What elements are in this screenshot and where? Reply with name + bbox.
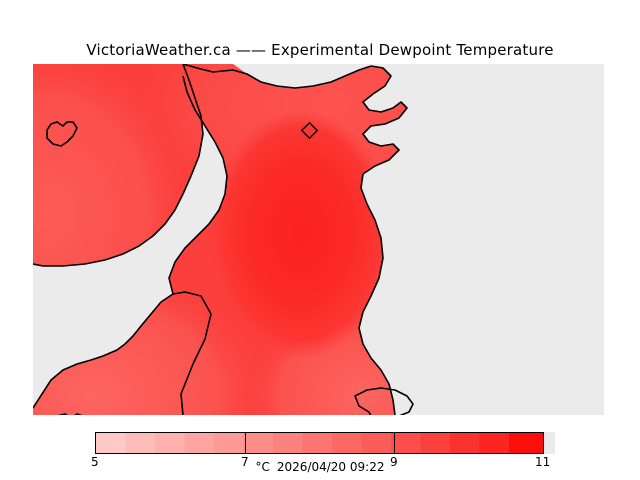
map-plot-area[interactable] bbox=[33, 64, 604, 415]
colorbar: 5 7 9 11 bbox=[95, 432, 555, 454]
colorbar-gradient bbox=[96, 433, 543, 453]
timestamp-label: 2026/04/20 09:22 bbox=[277, 460, 385, 474]
colorbar-caption: °C2026/04/20 09:22 bbox=[0, 460, 640, 474]
weather-map-page: VictoriaWeather.ca —— Experimental Dewpo… bbox=[0, 0, 640, 480]
colorbar-tail bbox=[544, 432, 555, 454]
dewpoint-map bbox=[33, 64, 604, 415]
colorbar-divider-7 bbox=[245, 433, 246, 454]
colorbar-track bbox=[95, 432, 544, 454]
page-title: VictoriaWeather.ca —— Experimental Dewpo… bbox=[0, 41, 640, 59]
unit-label: °C bbox=[256, 460, 270, 474]
colorbar-divider-9 bbox=[394, 433, 395, 454]
